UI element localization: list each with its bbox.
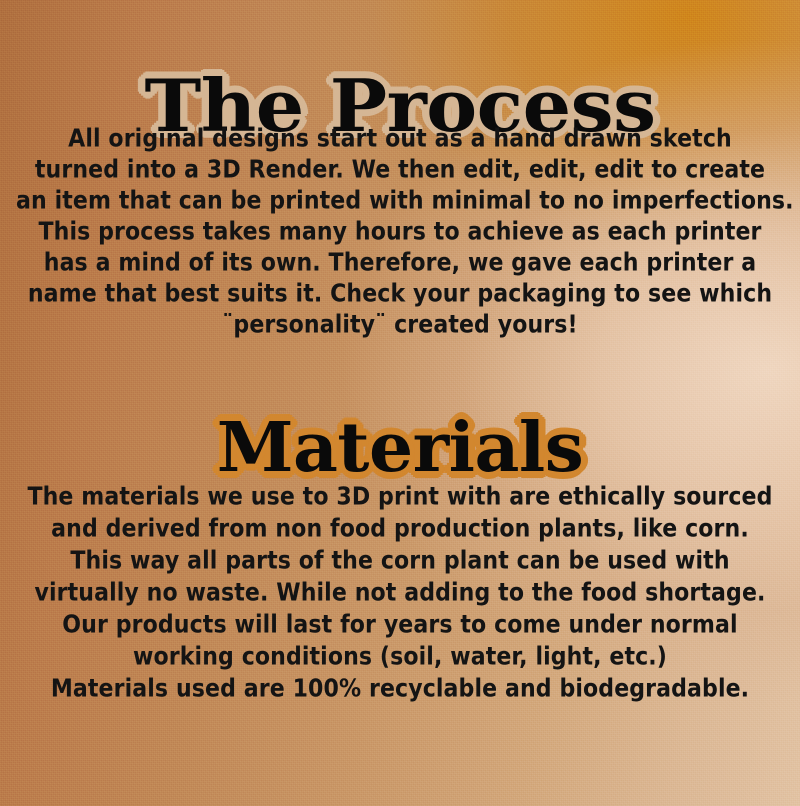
process-body-text: All original designs start out as a hand… (0, 124, 800, 341)
materials-heading: Materials (0, 414, 800, 482)
materials-body-text: The materials we use to 3D print with ar… (0, 481, 800, 705)
body-line: This way all parts of the corn plant can… (16, 544, 784, 579)
body-line: Our products will last for years to come… (16, 608, 784, 643)
body-line: virtually no waste. While not adding to … (16, 576, 784, 611)
body-line: Materials used are 100% recyclable and b… (16, 672, 784, 707)
poster-canvas: The Process All original designs start o… (0, 0, 800, 806)
body-line: This process takes many hours to achieve… (16, 216, 784, 249)
body-line: The materials we use to 3D print with ar… (16, 480, 784, 515)
poster-content: The Process All original designs start o… (0, 0, 800, 806)
body-line: has a mind of its own. Therefore, we gav… (16, 247, 784, 280)
body-line: and derived from non food production pla… (16, 512, 784, 547)
body-line: turned into a 3D Render. We then edit, e… (16, 154, 784, 187)
body-line: name that best suits it. Check your pack… (16, 278, 784, 311)
body-line: working conditions (soil, water, light, … (16, 640, 784, 675)
body-line: ¨personality¨ created yours! (16, 309, 784, 342)
body-line: All original designs start out as a hand… (16, 123, 784, 156)
body-line: an item that can be printed with minimal… (16, 185, 784, 218)
